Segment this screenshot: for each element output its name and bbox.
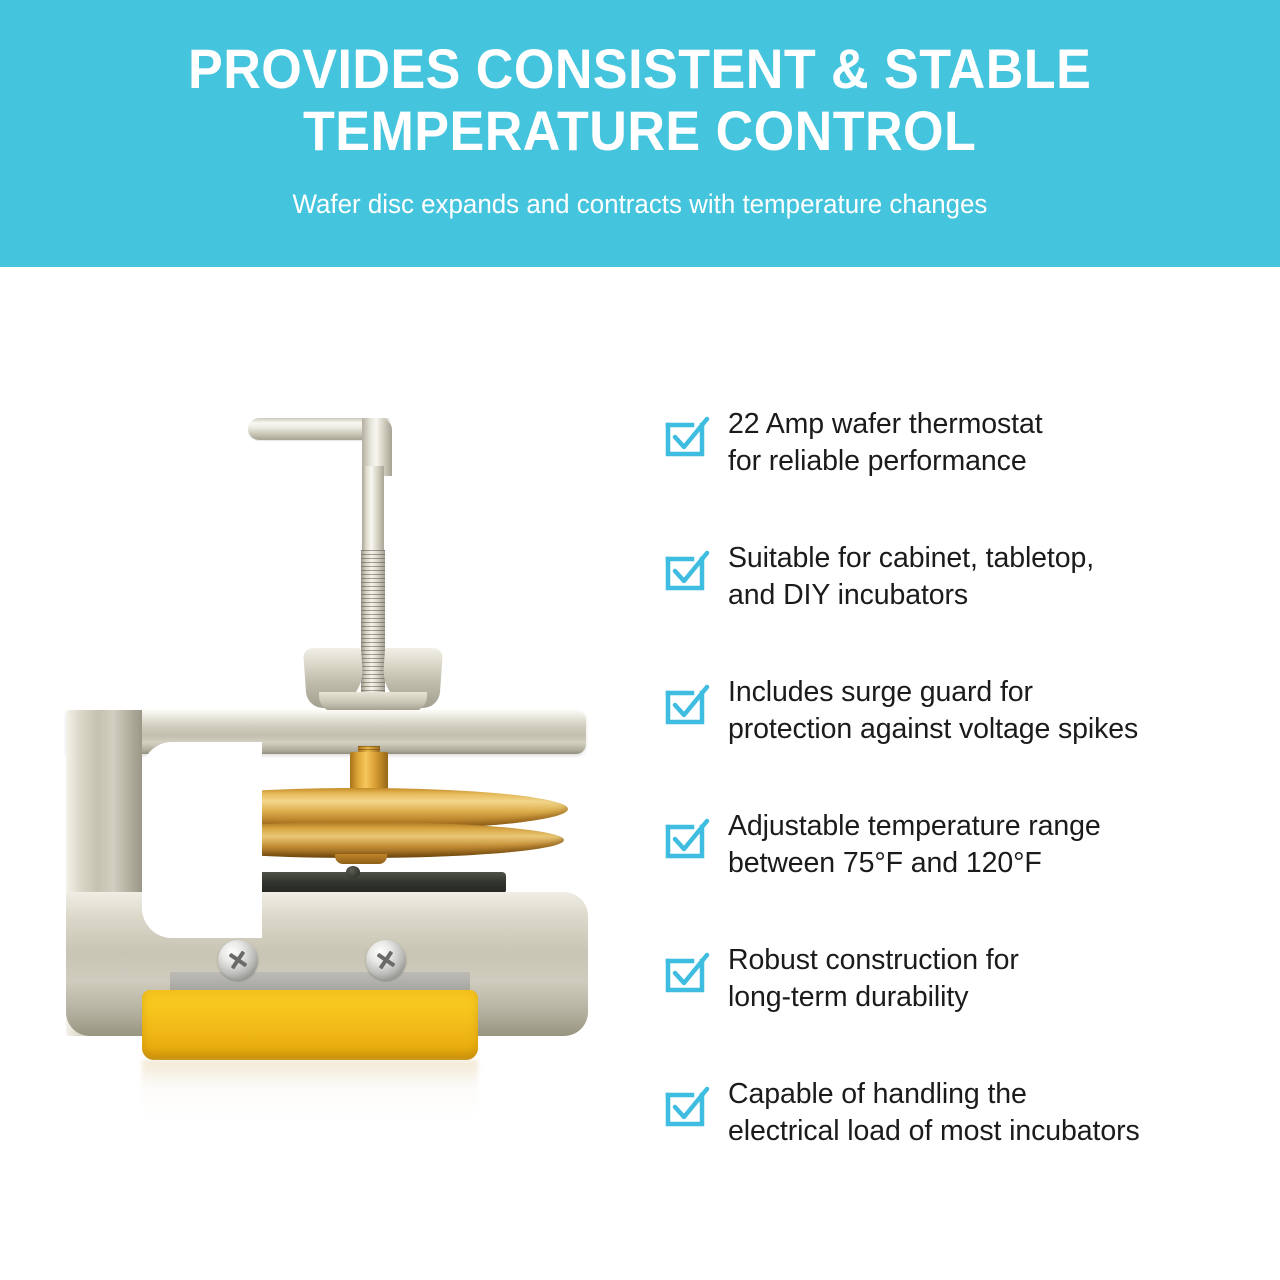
wafer-thermostat-illustration bbox=[50, 380, 650, 1100]
list-item-label: Adjustable temperature range between 75°… bbox=[728, 806, 1101, 882]
checkbox-check-icon bbox=[664, 818, 706, 860]
list-item-label: Includes surge guard for protection agai… bbox=[728, 672, 1138, 748]
list-item: Adjustable temperature range between 75°… bbox=[664, 806, 1244, 882]
page-subtitle: Wafer disc expands and contracts with te… bbox=[293, 188, 988, 220]
list-item: Suitable for cabinet, tabletop, and DIY … bbox=[664, 538, 1244, 614]
checkbox-check-icon bbox=[664, 550, 706, 592]
checkbox-check-icon bbox=[664, 416, 706, 458]
mounting-screw-right bbox=[366, 940, 406, 980]
checkbox-check-icon bbox=[664, 952, 706, 994]
product-reflection bbox=[142, 1060, 478, 1120]
micro-switch-pivot bbox=[346, 866, 360, 878]
mounting-screw-left bbox=[218, 940, 258, 980]
header-banner: PROVIDES CONSISTENT & STABLE TEMPERATURE… bbox=[0, 0, 1280, 267]
wafer-disc-nub bbox=[335, 854, 387, 864]
adjustment-rod-shaft-icon bbox=[362, 466, 384, 556]
checkbox-check-icon bbox=[664, 684, 706, 726]
page-title: PROVIDES CONSISTENT & STABLE TEMPERATURE… bbox=[188, 38, 1091, 162]
list-item-label: Suitable for cabinet, tabletop, and DIY … bbox=[728, 538, 1094, 614]
wing-bracket-icon bbox=[305, 648, 441, 712]
feature-list: 22 Amp wafer thermostat for reliable per… bbox=[664, 404, 1244, 1150]
list-item: Capable of handling the electrical load … bbox=[664, 1074, 1244, 1150]
top-plate-icon bbox=[66, 710, 586, 754]
list-item: 22 Amp wafer thermostat for reliable per… bbox=[664, 404, 1244, 480]
mounting-strip bbox=[170, 972, 470, 990]
wing-bracket-base bbox=[319, 692, 427, 712]
c-bracket-cutout bbox=[142, 742, 262, 938]
list-item-label: Capable of handling the electrical load … bbox=[728, 1074, 1140, 1150]
list-item-label: 22 Amp wafer thermostat for reliable per… bbox=[728, 404, 1043, 480]
list-item: Includes surge guard for protection agai… bbox=[664, 672, 1244, 748]
checkbox-check-icon bbox=[664, 1086, 706, 1128]
list-item: Robust construction for long-term durabi… bbox=[664, 940, 1244, 1016]
product-image bbox=[50, 380, 650, 1160]
switch-body-icon bbox=[142, 990, 478, 1060]
list-item-label: Robust construction for long-term durabi… bbox=[728, 940, 1019, 1016]
